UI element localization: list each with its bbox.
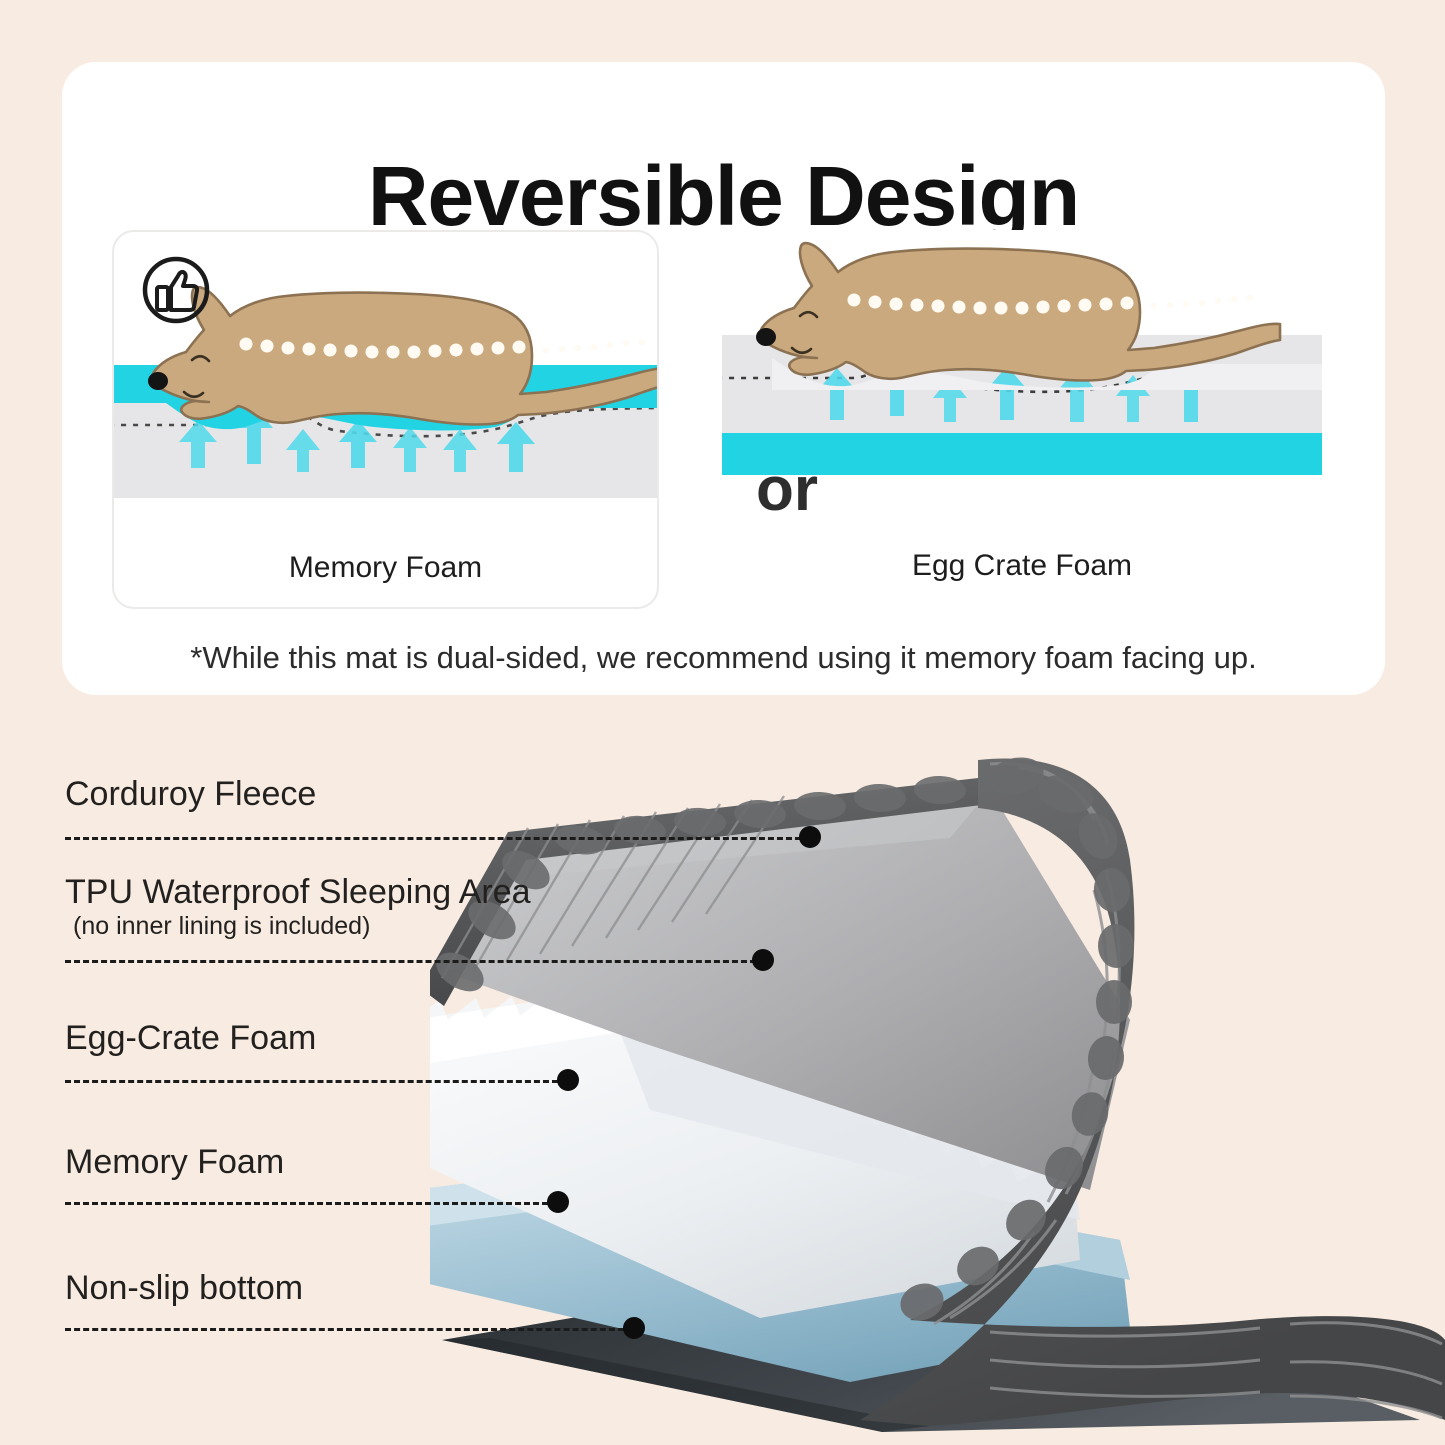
dog-illustration	[148, 287, 657, 424]
callout-sublabel-1: (no inner lining is included)	[65, 912, 531, 941]
layer-callouts: Corduroy Fleece TPU Waterproof Sleeping …	[0, 720, 1445, 1445]
callout-dot-0	[799, 826, 821, 848]
callout-non-slip-bottom: Non-slip bottom	[65, 1268, 303, 1308]
callout-dot-2	[557, 1069, 579, 1091]
disclaimer-text: *While this mat is dual-sided, we recomm…	[62, 640, 1385, 676]
callout-label-1: TPU Waterproof Sleeping Area	[65, 872, 531, 912]
panel-egg-crate-foam: Egg Crate Foam	[722, 230, 1322, 605]
callout-dash-1	[65, 960, 765, 963]
reversible-design-card: Reversible Design	[62, 62, 1385, 695]
thumbs-up-icon	[140, 254, 212, 326]
callout-dash-4	[65, 1328, 633, 1331]
panel-caption-memory-foam: Memory Foam	[114, 551, 657, 585]
panel-memory-foam: Memory Foam	[112, 230, 659, 609]
callout-corduroy-fleece: Corduroy Fleece	[65, 774, 316, 814]
product-layers-illustration	[430, 720, 1445, 1445]
infographic-stage: Reversible Design	[0, 0, 1445, 1445]
callout-memory-foam: Memory Foam	[65, 1142, 284, 1182]
callout-label-0: Corduroy Fleece	[65, 774, 316, 814]
dog-illustration-egg-crate	[756, 243, 1280, 380]
callout-label-3: Memory Foam	[65, 1142, 284, 1182]
callout-label-2: Egg-Crate Foam	[65, 1018, 316, 1058]
callout-dash-0	[65, 837, 810, 840]
callout-dash-2	[65, 1080, 567, 1083]
callout-dot-3	[547, 1191, 569, 1213]
callout-tpu-waterproof: TPU Waterproof Sleeping Area (no inner l…	[65, 872, 531, 941]
panel-caption-egg-crate-foam: Egg Crate Foam	[722, 549, 1322, 583]
callout-label-4: Non-slip bottom	[65, 1268, 303, 1308]
callout-dash-3	[65, 1202, 557, 1205]
callout-egg-crate-foam: Egg-Crate Foam	[65, 1018, 316, 1058]
or-connector: or	[734, 454, 840, 525]
callout-dot-1	[752, 949, 774, 971]
callout-dot-4	[623, 1317, 645, 1339]
